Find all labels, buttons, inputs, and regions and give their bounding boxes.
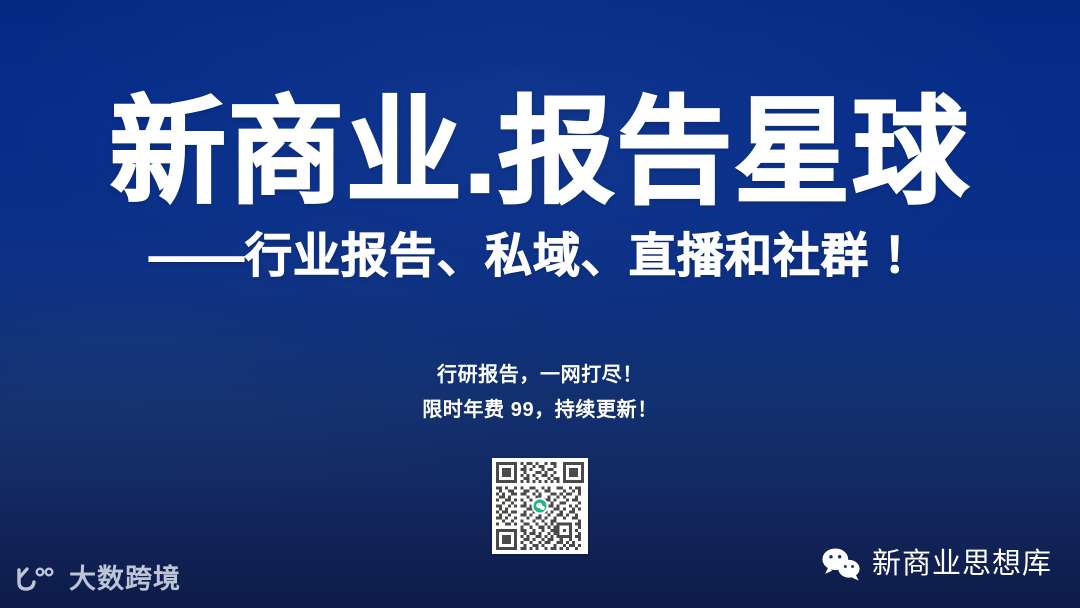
watermark-text: 大数跨境 (69, 566, 181, 593)
tagline-line-2: 限时年费 99，持续更新！ (0, 393, 1080, 428)
page-subtitle: ——行业报告、私域、直播和社群 ！ (0, 228, 1080, 284)
qr-code[interactable] (492, 458, 588, 554)
page-title: 新商业.报告星球 (0, 92, 1080, 214)
wechat-icon (820, 546, 862, 582)
qr-center-wechat-logo-icon (532, 498, 549, 515)
qr-code-canvas (496, 462, 584, 550)
tagline-block: 行研报告，一网打尽！ 限时年费 99，持续更新！ (0, 358, 1080, 428)
watermark: 大数跨境 (14, 564, 181, 594)
headline-block: 新商业.报告星球 ——行业报告、私域、直播和社群 ！ (0, 92, 1080, 284)
wechat-account-name: 新商业思想库 (872, 550, 1052, 579)
poster-canvas: 新商业.报告星球 ——行业报告、私域、直播和社群 ！ 行研报告，一网打尽！ 限时… (0, 0, 1080, 608)
wechat-account-footer[interactable]: 新商业思想库 (820, 546, 1052, 582)
tagline-line-1: 行研报告，一网打尽！ (0, 358, 1080, 393)
dashukuajing-logo-icon (14, 564, 60, 594)
